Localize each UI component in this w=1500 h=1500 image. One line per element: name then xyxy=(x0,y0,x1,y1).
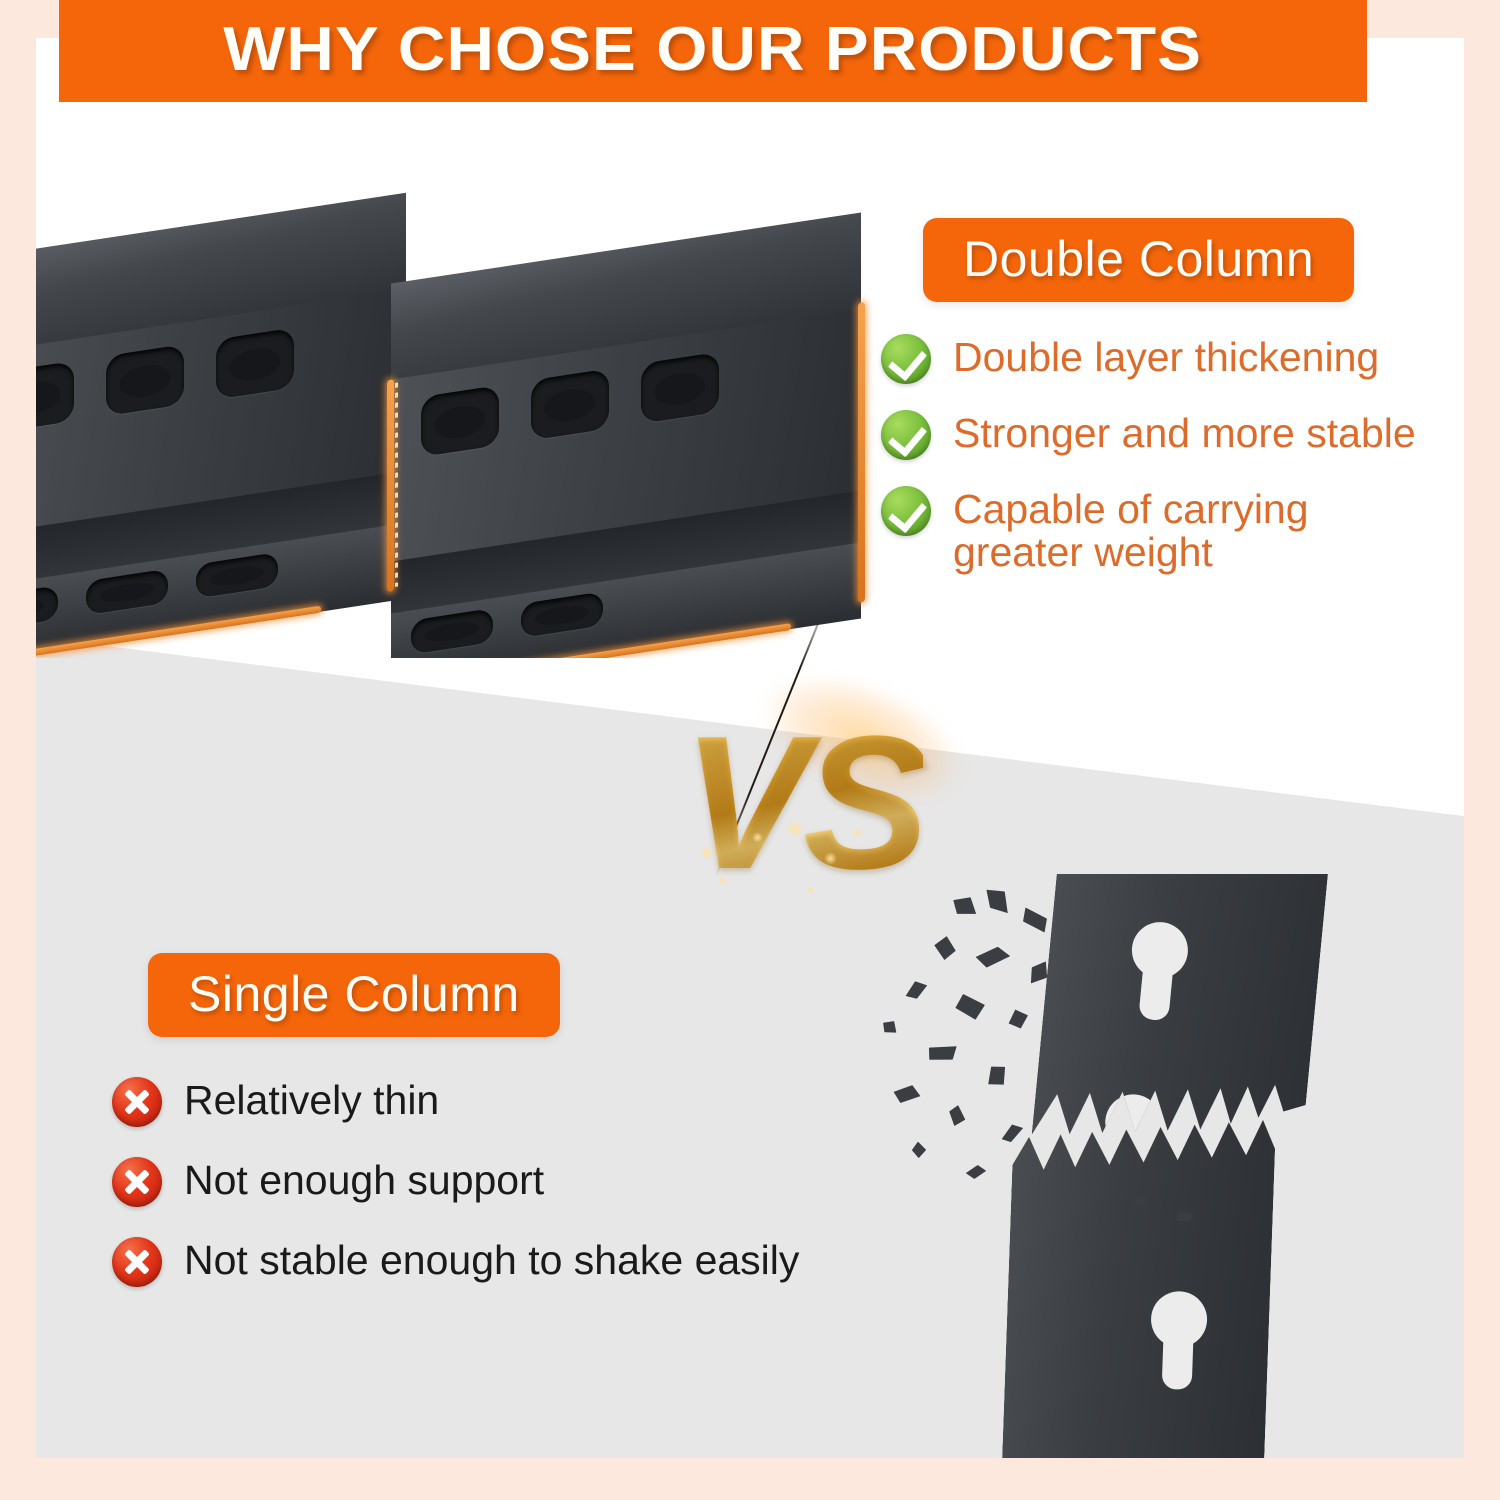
list-item: Capable of carrying greater weight xyxy=(881,486,1464,575)
single-column-section: Single Column Relatively thin Not enough… xyxy=(112,953,942,1317)
double-column-badge: Double Column xyxy=(923,218,1354,302)
debris-fragment xyxy=(902,977,931,1003)
double-column-photo xyxy=(36,138,896,658)
debris-fragment xyxy=(893,1084,921,1103)
debris-fragment xyxy=(926,1040,960,1066)
list-item: Relatively thin xyxy=(112,1077,942,1127)
green-check-icon xyxy=(881,486,931,536)
debris-fragment xyxy=(981,1060,1013,1092)
rail-edge-highlight xyxy=(858,302,865,603)
green-check-icon xyxy=(881,410,931,460)
debris-fragment xyxy=(954,993,986,1021)
single-column-badge: Single Column xyxy=(148,953,560,1037)
green-check-icon xyxy=(881,334,931,384)
infographic-page: Double Column Double layer thickening St… xyxy=(0,0,1500,1500)
list-item: Double layer thickening xyxy=(881,334,1464,384)
keyhole-stem xyxy=(1162,1327,1194,1390)
double-column-bullet-list: Double layer thickening Stronger and mor… xyxy=(881,334,1464,575)
double-column-badge-wrap: Double Column xyxy=(923,218,1464,302)
bullet-label: Not enough support xyxy=(184,1157,544,1202)
header-banner: WHY CHOSE OUR PRODUCTS xyxy=(59,0,1367,102)
page-title: WHY CHOSE OUR PRODUCTS xyxy=(224,14,1203,85)
post-keyhole-slot xyxy=(1116,1289,1240,1403)
steel-rail-front xyxy=(391,212,861,658)
single-column-badge-wrap: Single Column xyxy=(148,953,942,1037)
debris-fragment xyxy=(1018,905,1052,935)
debris-fragment xyxy=(880,1018,900,1037)
post-keyhole-slot xyxy=(1092,917,1222,1038)
list-item: Not enough support xyxy=(112,1157,942,1207)
debris-fragment xyxy=(932,935,957,962)
single-column-bullet-list: Relatively thin Not enough support Not s… xyxy=(112,1077,942,1287)
bullet-label: Capable of carrying greater weight xyxy=(953,486,1383,575)
red-cross-icon xyxy=(112,1157,162,1207)
bullet-label: Relatively thin xyxy=(184,1077,439,1122)
content-canvas: Double Column Double layer thickening St… xyxy=(36,38,1464,1458)
red-cross-icon xyxy=(112,1237,162,1287)
broken-post-lower-fragment xyxy=(1002,1108,1276,1458)
debris-fragment xyxy=(944,1103,970,1129)
debris-fragment xyxy=(950,892,981,919)
rail-edge-dashed-highlight xyxy=(395,382,398,586)
rail-edge-highlight xyxy=(387,379,394,592)
broken-column-photo xyxy=(860,874,1464,1458)
keyhole-stem xyxy=(1138,957,1174,1022)
steel-rail-rear xyxy=(36,193,406,658)
debris-fragment xyxy=(965,1163,988,1181)
list-item: Stronger and more stable xyxy=(881,410,1464,460)
bullet-label: Not stable enough to shake easily xyxy=(184,1237,799,1282)
list-item: Not stable enough to shake easily xyxy=(112,1237,942,1287)
red-cross-icon xyxy=(112,1077,162,1127)
debris-fragment xyxy=(910,1141,927,1160)
debris-fragment xyxy=(975,945,1012,970)
bullet-label: Double layer thickening xyxy=(953,334,1379,379)
double-column-section: Double Column Double layer thickening St… xyxy=(881,218,1464,601)
debris-fragment xyxy=(998,1120,1026,1145)
bullet-label: Stronger and more stable xyxy=(953,410,1416,455)
debris-fragment xyxy=(983,883,1013,919)
debris-fragment xyxy=(1005,1006,1032,1033)
